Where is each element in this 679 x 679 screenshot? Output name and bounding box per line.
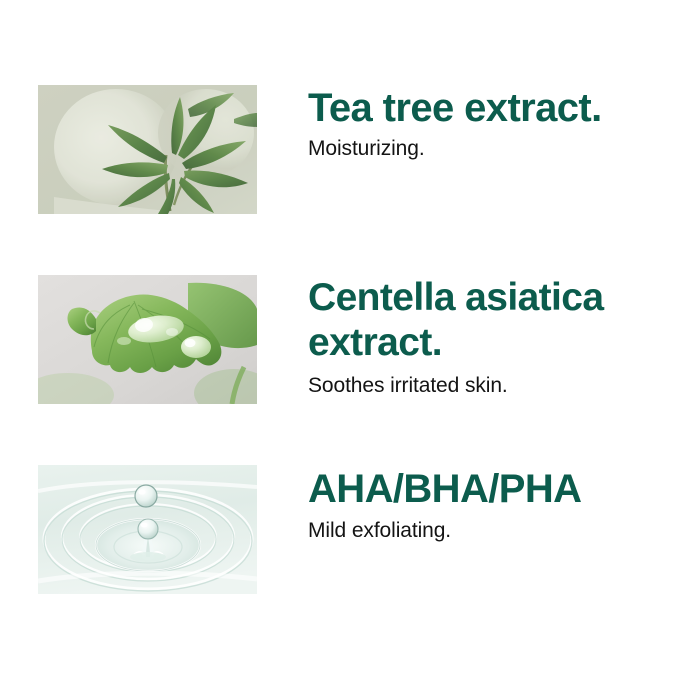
product-ingredients-panel: Tea tree extract. Moisturizing. — [0, 0, 679, 679]
feature-subtitle: Moisturizing. — [308, 130, 679, 162]
tea-tree-leaves-photo — [38, 85, 257, 214]
acids-copy: AHA/BHA/PHA Mild exfoliating. — [308, 465, 679, 594]
feature-heading: AHA/BHA/PHA — [308, 465, 679, 511]
centella-leaf-dewdrops-photo — [38, 275, 257, 404]
feature-row-tea-tree: Tea tree extract. Moisturizing. — [0, 85, 679, 214]
tea-tree-copy: Tea tree extract. Moisturizing. — [308, 85, 679, 214]
feature-heading: Centella asiatica extract. — [308, 275, 679, 365]
feature-subtitle: Mild exfoliating. — [308, 511, 679, 544]
feature-row-acids: AHA/BHA/PHA Mild exfoliating. — [0, 465, 679, 594]
centella-illustration — [38, 275, 257, 404]
feature-subtitle: Soothes irritated skin. — [308, 365, 679, 399]
water-droplet-ripple-photo — [38, 465, 257, 594]
tea-tree-illustration — [38, 85, 257, 214]
feature-row-centella: Centella asiatica extract. Soothes irrit… — [0, 275, 679, 404]
centella-copy: Centella asiatica extract. Soothes irrit… — [308, 275, 679, 404]
feature-heading: Tea tree extract. — [308, 85, 679, 130]
water-ripple-illustration — [38, 465, 257, 594]
